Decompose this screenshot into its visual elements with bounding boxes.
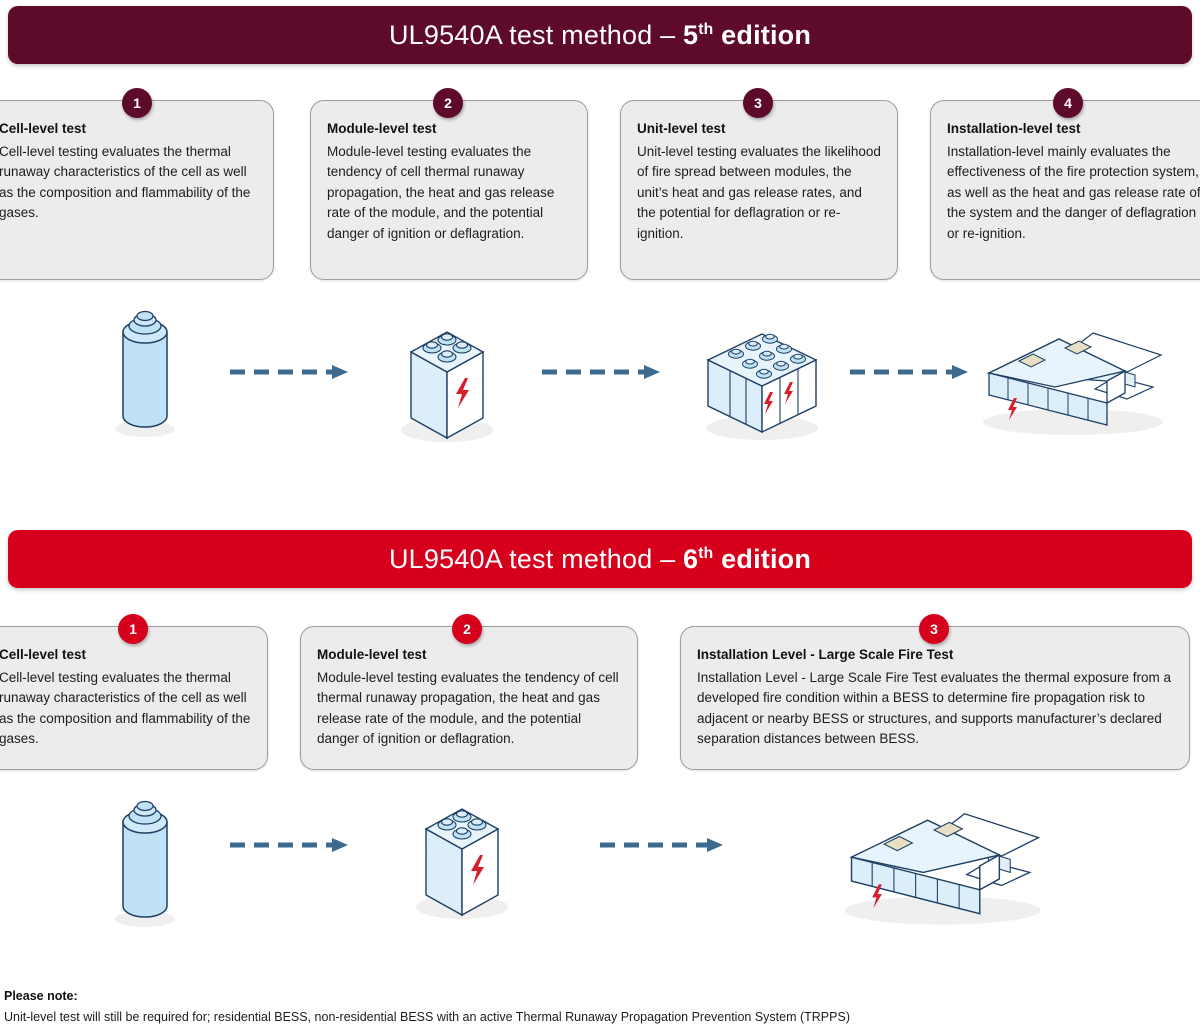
step-badge-number: 2 (444, 95, 452, 111)
step-card-body: Installation-level mainly evaluates the … (947, 142, 1200, 245)
edition-5-title-tail: edition (713, 20, 811, 50)
step-card-6-1[interactable]: Cell-level test Cell-level testing evalu… (0, 626, 268, 770)
battery-module-icon (400, 795, 525, 925)
edition-5-header-band: UL9540A test method – 5th edition (8, 6, 1192, 64)
step-badge-6-2: 2 (452, 614, 482, 644)
battery-module-icon (385, 318, 510, 448)
step-badge-number: 3 (754, 95, 762, 111)
edition-5-title-main: UL9540A test method – (389, 20, 683, 50)
step-badge-5-1: 1 (122, 88, 152, 118)
step-card-title: Cell-level test (0, 119, 257, 139)
footnote: Please note: Unit-level test will still … (4, 989, 1194, 1024)
step-badge-5-4: 4 (1053, 88, 1083, 118)
infographic-canvas: UL9540A test method – 5th edition Cell-l… (0, 0, 1200, 1032)
edition-6-title-number: 6 (683, 544, 698, 574)
edition-5-title-number: 5 (683, 20, 698, 50)
edition-5-title-ordinal: th (698, 21, 713, 38)
flow-arrow-5-1 (228, 362, 358, 382)
footnote-title: Please note: (4, 989, 1194, 1003)
flow-arrow-5-2 (540, 362, 670, 382)
step-badge-number: 3 (930, 621, 938, 637)
edition-5-title: UL9540A test method – 5th edition (389, 20, 811, 51)
flow-arrow-6-1 (228, 835, 358, 855)
step-card-title: Module-level test (327, 119, 571, 139)
step-card-title: Unit-level test (637, 119, 881, 139)
step-badge-number: 1 (129, 621, 137, 637)
step-badge-number: 1 (133, 95, 141, 111)
step-card-5-3[interactable]: Unit-level test Unit-level testing evalu… (620, 100, 898, 280)
step-badge-6-3: 3 (919, 614, 949, 644)
edition-6-title-main: UL9540A test method – (389, 544, 683, 574)
step-badge-6-1: 1 (118, 614, 148, 644)
step-badge-number: 4 (1064, 95, 1072, 111)
footnote-text: Unit-level test will still be required f… (4, 1010, 1194, 1024)
step-card-title: Installation Level - Large Scale Fire Te… (697, 645, 1173, 665)
step-badge-number: 2 (463, 621, 471, 637)
flow-arrow-5-3 (848, 362, 978, 382)
battery-unit-icon (690, 320, 835, 445)
step-card-body: Cell-level testing evaluates the thermal… (0, 668, 251, 750)
battery-cell-icon (85, 788, 205, 933)
edition-6-header-band: UL9540A test method – 6th edition (8, 530, 1192, 588)
edition-6-title-ordinal: th (698, 545, 713, 562)
step-card-title: Module-level test (317, 645, 621, 665)
step-card-body: Unit-level testing evaluates the likelih… (637, 142, 881, 245)
flow-arrow-6-2 (598, 835, 733, 855)
battery-cell-icon (85, 298, 205, 443)
step-card-5-2[interactable]: Module-level test Module-level testing e… (310, 100, 588, 280)
step-badge-5-2: 2 (433, 88, 463, 118)
edition-6-title: UL9540A test method – 6th edition (389, 544, 811, 575)
step-card-5-4[interactable]: Installation-level test Installation-lev… (930, 100, 1200, 280)
step-card-5-1[interactable]: Cell-level test Cell-level testing evalu… (0, 100, 274, 280)
step-card-title: Cell-level test (0, 645, 251, 665)
bess-installation-icon (975, 325, 1175, 440)
step-card-body: Installation Level - Large Scale Fire Te… (697, 668, 1173, 750)
step-card-6-3[interactable]: Installation Level - Large Scale Fire Te… (680, 626, 1190, 770)
step-card-6-2[interactable]: Module-level test Module-level testing e… (300, 626, 638, 770)
step-card-title: Installation-level test (947, 119, 1200, 139)
step-card-body: Module-level testing evaluates the tende… (317, 668, 621, 750)
step-card-body: Module-level testing evaluates the tende… (327, 142, 571, 245)
bess-installation-icon (835, 805, 1055, 930)
step-card-body: Cell-level testing evaluates the thermal… (0, 142, 257, 224)
edition-6-title-tail: edition (713, 544, 811, 574)
step-badge-5-3: 3 (743, 88, 773, 118)
